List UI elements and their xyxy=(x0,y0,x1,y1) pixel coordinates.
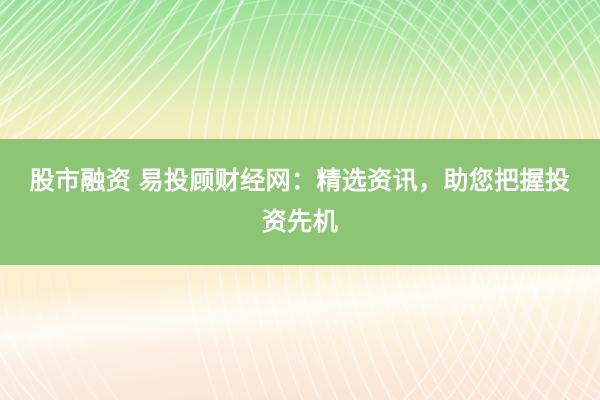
headline-line-1: 股市融资 易投顾财经网：精选资讯，助您把握投 xyxy=(30,161,571,202)
headline-line-2: 资先机 xyxy=(262,202,338,243)
headline-text: 股市融资 易投顾财经网：精选资讯，助您把握投 资先机 xyxy=(0,139,600,265)
background-top-gradient xyxy=(0,0,600,139)
banner-image: 股市融资 易投顾财经网：精选资讯，助您把握投 资先机 xyxy=(0,0,600,400)
